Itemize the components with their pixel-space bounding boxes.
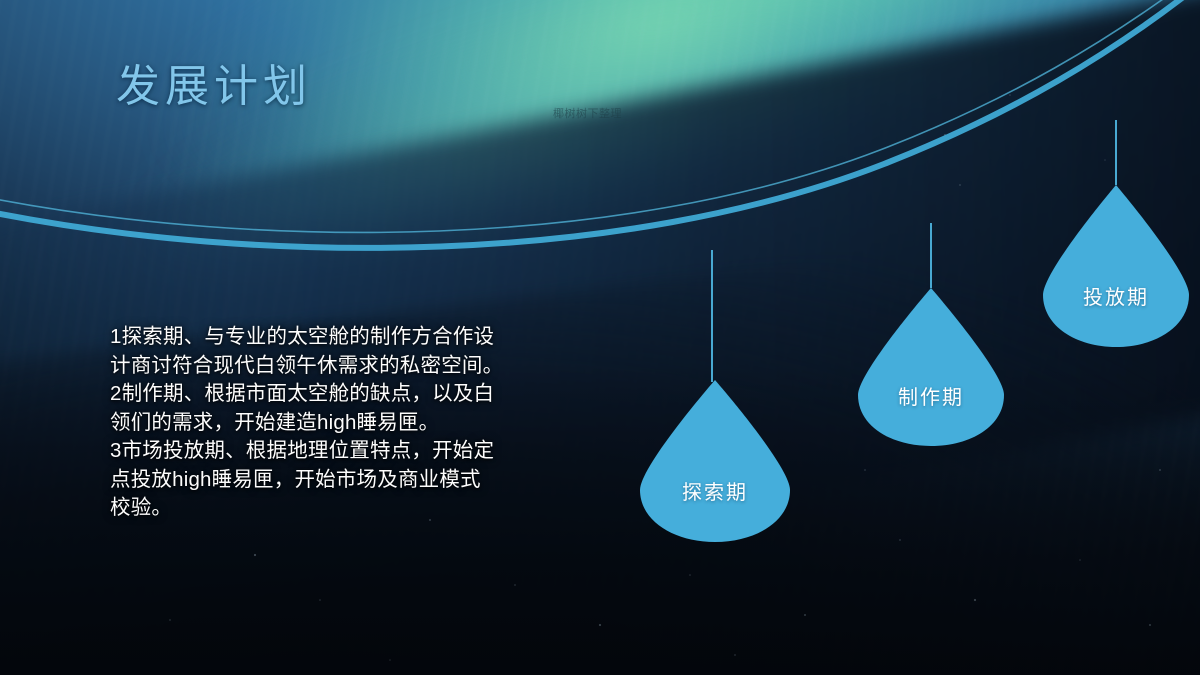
body-line: 2制作期、根据市面太空舱的缺点，以及白 xyxy=(110,380,562,409)
droplet-shape-3[interactable] xyxy=(1043,183,1189,349)
curve-main xyxy=(0,0,1200,248)
body-line: 1探索期、与专业的太空舱的制作方合作设 xyxy=(110,323,562,352)
body-line: 计商讨符合现代白领午休需求的私密空间。 xyxy=(110,352,562,381)
droplet-shape-2[interactable] xyxy=(858,286,1004,448)
droplet-1-label: 探索期 xyxy=(640,476,790,505)
droplet-shape-1[interactable] xyxy=(640,378,790,544)
body-line: 点投放high睡易匣，开始市场及商业模式 xyxy=(110,466,562,495)
body-line: 3市场投放期、根据地理位置特点，开始定 xyxy=(110,437,562,466)
body-line: 领们的需求，开始建造high睡易匣。 xyxy=(110,409,562,438)
droplet-3[interactable]: 投放期 xyxy=(1043,183,1189,349)
droplet-3-label: 投放期 xyxy=(1043,281,1189,310)
body-text-block: 1探索期、与专业的太空舱的制作方合作设 计商讨符合现代白领午休需求的私密空间。 … xyxy=(110,323,562,523)
body-line: 校验。 xyxy=(110,494,562,523)
slide-canvas: 发展计划 椰树树下整理 1探索期、与专业的太空舱的制作方合作设 计商讨符合现代白… xyxy=(0,0,1200,675)
watermark-text: 椰树树下整理 xyxy=(553,105,622,121)
droplet-2[interactable]: 制作期 xyxy=(858,286,1004,448)
page-title: 发展计划 xyxy=(116,50,312,114)
droplet-2-label: 制作期 xyxy=(858,381,1004,410)
droplet-1[interactable]: 探索期 xyxy=(640,378,790,544)
